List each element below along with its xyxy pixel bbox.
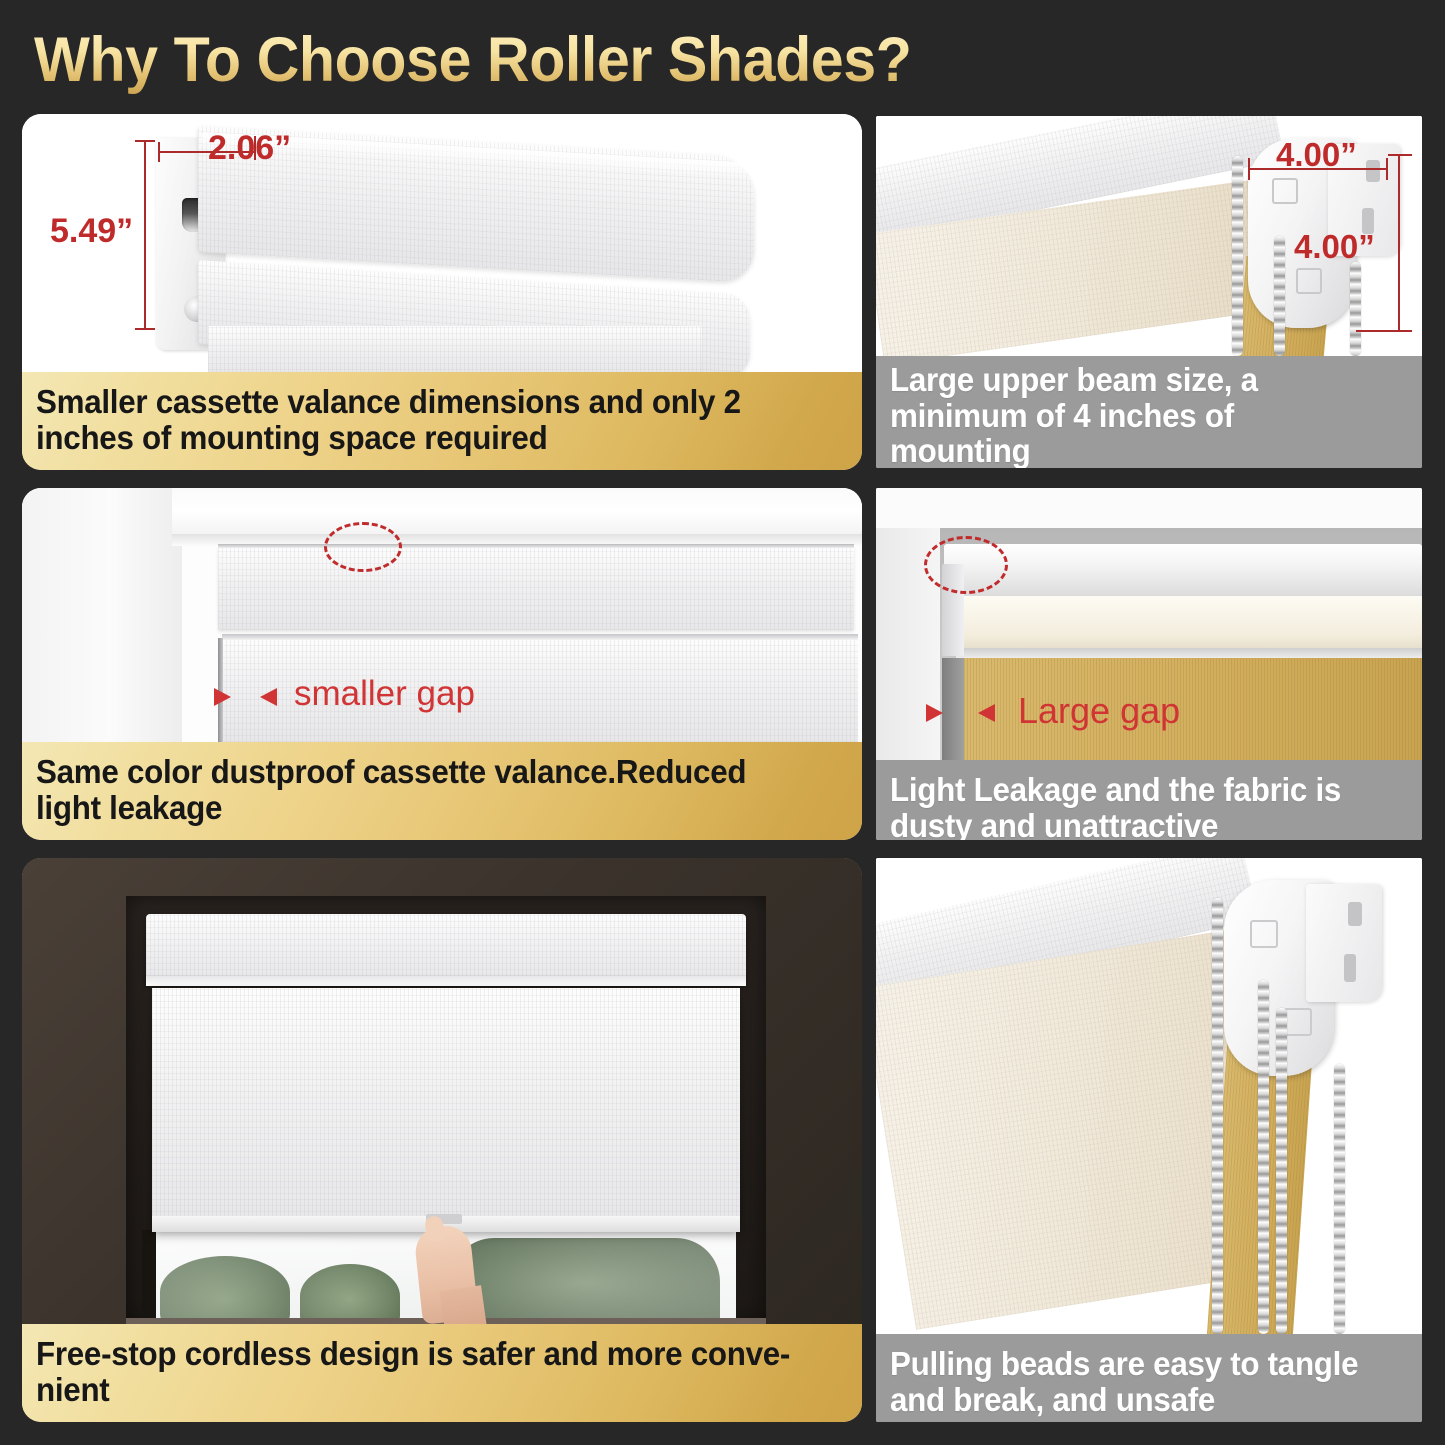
width-dimension-label: 2.06” xyxy=(208,129,291,168)
bead-chain-mid xyxy=(1258,980,1269,1334)
caption-line-2: minimum of 4 inches of mounting xyxy=(890,398,1382,468)
gap-shadow xyxy=(942,658,964,760)
beam-height-tick-bottom xyxy=(1356,330,1412,332)
hand-forearm xyxy=(439,1285,486,1324)
bead-chain-mid xyxy=(1274,236,1285,356)
caption-line-1: Same color dustproof cassette valance.Re… xyxy=(36,754,807,790)
panel-light-leakage: Large gap Light Leakage and the fabric i… xyxy=(876,488,1422,840)
bead-chain-left xyxy=(1212,898,1223,1334)
caption-line-1: Smaller cassette valance dimensions and … xyxy=(36,384,807,420)
gap-callout-label: Large gap xyxy=(1018,690,1180,732)
caption-cordless-design: Free-stop cordless design is safer and m… xyxy=(22,1324,862,1422)
panel-large-upper-beam: 4.00” 4.00” Large upper beam size, a min… xyxy=(876,116,1422,468)
panel-cordless-design: Free-stop cordless design is safer and m… xyxy=(22,858,862,1422)
bracket-icon-lower xyxy=(1284,1008,1312,1036)
cream-fabric-band xyxy=(956,596,1422,652)
height-dimension-tick-bottom xyxy=(135,328,155,330)
caption-line-1: Large upper beam size, a xyxy=(890,362,1382,398)
beam-bracket-wing xyxy=(1306,884,1382,1002)
gap-arrow-right xyxy=(978,704,995,722)
caption-line-1: Free-stop cordless design is safer and m… xyxy=(36,1336,807,1372)
cassette-valance-lip xyxy=(146,976,746,986)
height-dimension-line xyxy=(144,140,146,330)
beam-width-tick-right xyxy=(1386,158,1388,180)
large-upper-beam-photo: 4.00” 4.00” xyxy=(876,116,1422,356)
bracket-slot-top xyxy=(1366,160,1380,182)
gap-callout-label: smaller gap xyxy=(294,674,475,714)
cordless-design-photo xyxy=(22,858,862,1324)
gap-highlight-circle xyxy=(924,536,1008,594)
bracket-slot-bottom xyxy=(1344,954,1356,982)
caption-line-2: dusty and unattractive xyxy=(890,808,1382,840)
bracket-icon-upper xyxy=(1272,178,1298,204)
beam-height-tick-top xyxy=(1388,154,1412,156)
bracket-icon-upper xyxy=(1250,920,1278,948)
shade-fabric xyxy=(152,988,740,1230)
beam-width-tick-left xyxy=(1248,158,1250,180)
fabric-band-edge xyxy=(956,648,1422,658)
gap-arrow-left xyxy=(214,688,231,706)
caption-light-leakage: Light Leakage and the fabric is dusty an… xyxy=(876,760,1422,840)
panel-dustproof-cassette: smaller gap Same color dustproof cassett… xyxy=(22,488,862,840)
caption-line-2: and break, and unsafe xyxy=(890,1382,1382,1418)
page-title: Why To Choose Roller Shades? xyxy=(34,24,974,96)
hanging-fabric xyxy=(208,326,702,372)
bead-chain-right xyxy=(1350,262,1361,356)
dustproof-cassette-photo: smaller gap xyxy=(22,488,862,742)
gap-arrow-left xyxy=(926,704,943,722)
caption-cassette-dimensions: Smaller cassette valance dimensions and … xyxy=(22,372,862,470)
bead-chain-mid-2 xyxy=(1276,1008,1287,1334)
window-mullion xyxy=(142,1230,156,1324)
panel-cassette-dimensions: 5.49” 2.06” Smaller cassette valance dim… xyxy=(22,114,862,470)
caption-line-2: light leakage xyxy=(36,790,807,826)
beam-height-label: 4.00” xyxy=(1294,228,1375,266)
window-frame-left xyxy=(22,488,182,742)
gap-arrow-right xyxy=(260,688,277,706)
caption-line-2: nient xyxy=(36,1372,807,1408)
panel-pulling-beads: Pulling beads are easy to tangle and bre… xyxy=(876,858,1422,1422)
cassette-valance xyxy=(218,546,854,630)
cassette-valance-edge xyxy=(218,544,854,548)
infographic-root: Why To Choose Roller Shades? 5.49” xyxy=(0,0,1445,1445)
caption-dustproof-cassette: Same color dustproof cassette valance.Re… xyxy=(22,742,862,840)
width-dimension-tick-left xyxy=(158,142,160,162)
light-leakage-photo: Large gap xyxy=(876,488,1422,760)
caption-line-1: Light Leakage and the fabric is xyxy=(890,772,1382,808)
caption-large-upper-beam: Large upper beam size, a minimum of 4 in… xyxy=(876,356,1422,468)
roller-tube xyxy=(944,544,1422,600)
beam-height-line xyxy=(1398,154,1400,332)
caption-pulling-beads: Pulling beads are easy to tangle and bre… xyxy=(876,1334,1422,1422)
bracket-slot-top xyxy=(1348,902,1362,926)
caption-line-1: Pulling beads are easy to tangle xyxy=(890,1346,1382,1382)
caption-line-2: inches of mounting space required xyxy=(36,420,807,456)
pulling-beads-photo xyxy=(876,858,1422,1334)
bead-chain-left xyxy=(1232,156,1243,356)
gap-highlight-circle xyxy=(324,522,402,572)
height-dimension-tick-top xyxy=(135,140,155,142)
bracket-icon-lower xyxy=(1296,268,1322,294)
beam-width-label: 4.00” xyxy=(1276,136,1357,174)
cassette-dimensions-photo: 5.49” 2.06” xyxy=(22,114,862,372)
shade-fabric-top-edge xyxy=(222,634,858,640)
cassette-valance xyxy=(146,914,746,982)
height-dimension-label: 5.49” xyxy=(50,212,133,251)
bead-chain-right xyxy=(1334,1064,1345,1334)
